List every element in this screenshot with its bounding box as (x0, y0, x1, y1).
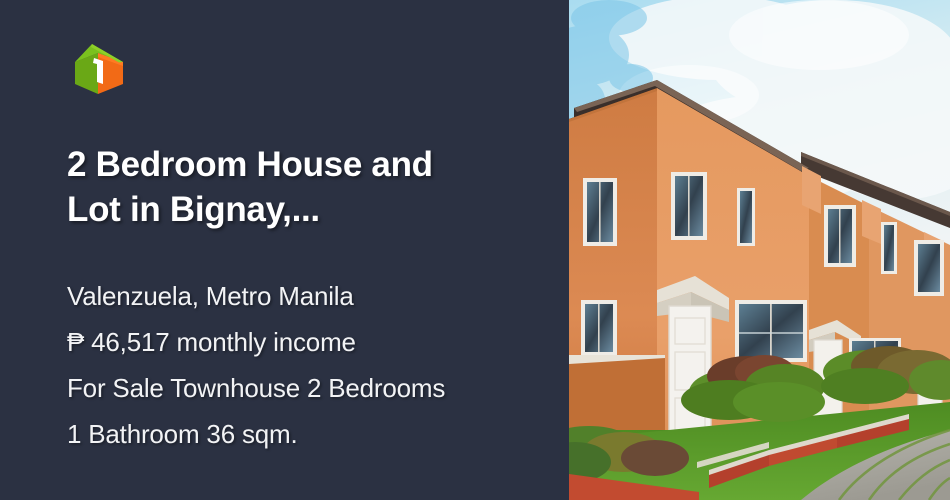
house-one-logo-icon[interactable] (67, 36, 129, 98)
property-photo (569, 0, 950, 500)
listing-details: Valenzuela, Metro Manila ₱ 46,517 monthl… (67, 273, 547, 457)
detail-size: 1 Bathroom 36 sqm. (67, 411, 547, 457)
info-panel: 2 Bedroom House and Lot in Bignay,... Va… (0, 0, 569, 500)
listing-title: 2 Bedroom House and Lot in Bignay,... (67, 142, 537, 232)
detail-type: For Sale Townhouse 2 Bedrooms (67, 365, 547, 411)
detail-price: ₱ 46,517 monthly income (67, 319, 547, 365)
detail-location: Valenzuela, Metro Manila (67, 273, 547, 319)
property-listing-card: 2 Bedroom House and Lot in Bignay,... Va… (0, 0, 950, 500)
